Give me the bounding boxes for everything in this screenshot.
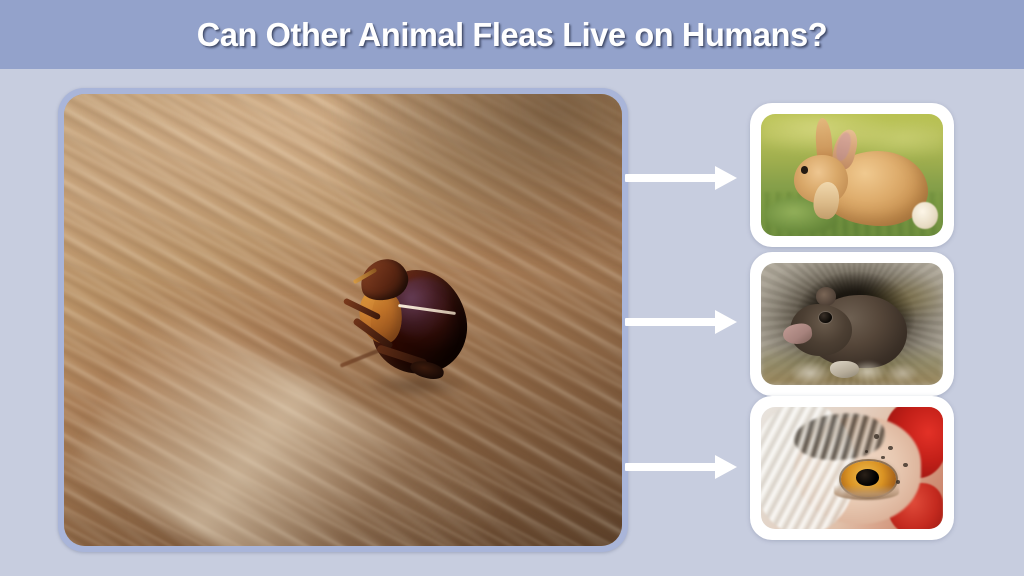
rat-eye bbox=[819, 312, 832, 323]
arrow-head bbox=[715, 455, 737, 479]
chicken-speck bbox=[903, 463, 908, 467]
rabbit-eye bbox=[801, 166, 808, 173]
slide-root: Can Other Animal Fleas Live on Humans? bbox=[0, 0, 1024, 576]
fur-dark-corner-shadow bbox=[343, 94, 622, 261]
thumbnail-rabbit-photo bbox=[761, 114, 943, 236]
arrow-shaft bbox=[625, 318, 717, 326]
thumbnail-chicken[interactable] bbox=[750, 396, 954, 540]
arrow-head bbox=[715, 310, 737, 334]
rat-ear bbox=[816, 287, 836, 305]
main-image-flea-on-fur bbox=[64, 94, 622, 546]
thumbnail-rat-photo bbox=[761, 263, 943, 385]
rabbit-tail bbox=[912, 202, 937, 229]
arrow-to-rat bbox=[625, 307, 737, 337]
chicken-lower-eyelid bbox=[834, 485, 900, 500]
thumbnail-chicken-photo bbox=[761, 407, 943, 529]
flea-shadow bbox=[364, 372, 472, 398]
arrow-to-rabbit bbox=[625, 163, 737, 193]
thumbnail-rat[interactable] bbox=[750, 252, 954, 396]
chicken-speck bbox=[874, 434, 879, 439]
rat-paw bbox=[830, 361, 859, 378]
arrow-head bbox=[715, 166, 737, 190]
flea-illustration bbox=[336, 244, 488, 404]
page-title: Can Other Animal Fleas Live on Humans? bbox=[8, 0, 1017, 69]
main-image-frame bbox=[58, 88, 628, 552]
arrow-to-chicken bbox=[625, 452, 737, 482]
arrow-shaft bbox=[625, 174, 717, 182]
arrow-shaft bbox=[625, 463, 717, 471]
thumbnail-rabbit[interactable] bbox=[750, 103, 954, 247]
